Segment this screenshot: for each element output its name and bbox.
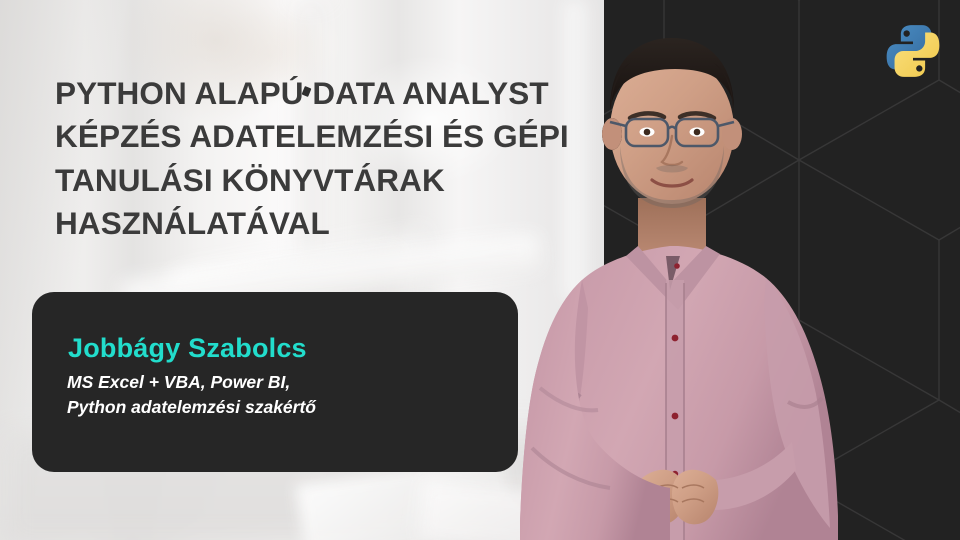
- presenter-foreground-arm: [470, 18, 890, 540]
- presenter-role: MS Excel + VBA, Power BI, Python adatele…: [67, 370, 316, 420]
- presenter-name: Jobbágy Szabolcs: [68, 333, 307, 364]
- presenter-role-line-2: Python adatelemzési szakértő: [67, 395, 316, 420]
- promo-banner: PYTHON ALAPÚ DATA ANALYST KÉPZÉS ADATELE…: [0, 0, 960, 540]
- presenter-name-card: Jobbágy Szabolcs MS Excel + VBA, Power B…: [32, 292, 518, 472]
- python-logo-icon: [884, 22, 942, 80]
- presenter-role-line-1: MS Excel + VBA, Power BI,: [67, 370, 316, 395]
